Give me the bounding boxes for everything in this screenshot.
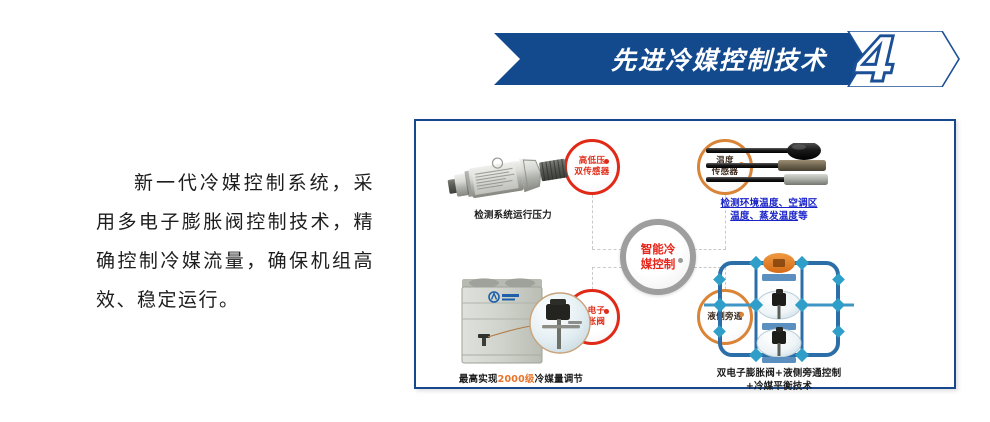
node-accent-dot xyxy=(604,309,609,314)
hub-label-line2: 媒控制 xyxy=(641,257,676,272)
pressure-transducer-image xyxy=(442,153,582,203)
caption-ac-unit-highlight: 2000级 xyxy=(498,374,535,385)
hub-intelligent-refrigerant-control: 智能冷 媒控制 xyxy=(620,219,696,295)
caption-temperature-probe-line2: 温度、蒸发温度 xyxy=(730,211,798,222)
caption-ac-unit-pre: 最高实现 xyxy=(459,374,498,385)
connector-bottom-left-horizontal xyxy=(592,267,622,268)
refrigerant-circuit-diagram xyxy=(704,253,854,365)
diagram-panel: 智能冷 媒控制 高低压 双传感器 温度 传感器 xyxy=(414,119,956,389)
caption-temperature-probe-tail: 等 xyxy=(798,211,808,222)
section-header-banner: 先进冷媒控制技术 4 xyxy=(494,31,960,87)
diagram-canvas: 智能冷 媒控制 高低压 双传感器 温度 传感器 xyxy=(416,121,954,387)
connector-top-left-vertical xyxy=(592,195,593,249)
banner-number-4-icon: 4 xyxy=(846,31,960,87)
hub-accent-dot xyxy=(678,258,683,263)
connector-top-right-horizontal xyxy=(694,249,726,250)
caption-circuit-line2: +冷媒平衡技术 xyxy=(680,380,878,393)
hub-label-line1: 智能冷 xyxy=(641,242,676,257)
caption-circuit-line1: 双电子膨胀阀+液侧旁通控制 xyxy=(680,367,878,380)
caption-temperature-probe: 检测环境温度、空调区 温度、蒸发温度等 xyxy=(690,197,848,223)
description-paragraph: 新一代冷媒控制系统，采用多电子膨胀阀控制技术，精确控制冷媒流量，确保机组高效、稳… xyxy=(96,164,374,320)
temperature-probe-image xyxy=(704,143,832,191)
outdoor-ac-unit-image xyxy=(446,273,596,373)
slide-root: 先进冷媒控制技术 4 新一代冷媒控制系统，采用多电子膨胀阀控制技术，精确控制冷媒… xyxy=(0,0,990,422)
caption-pressure-sensor: 检测系统运行压力 xyxy=(442,209,584,222)
caption-ac-unit: 最高实现2000级冷媒量调节 xyxy=(428,373,614,386)
caption-circuit: 双电子膨胀阀+液侧旁通控制 +冷媒平衡技术 xyxy=(680,367,878,393)
caption-ac-unit-post: 冷媒量调节 xyxy=(535,374,584,385)
node-accent-dot xyxy=(604,159,609,164)
banner-title: 先进冷媒控制技术 xyxy=(554,33,884,85)
caption-temperature-probe-line1: 检测环境温度、空调区 xyxy=(720,198,817,209)
connector-top-left-horizontal xyxy=(592,249,622,250)
